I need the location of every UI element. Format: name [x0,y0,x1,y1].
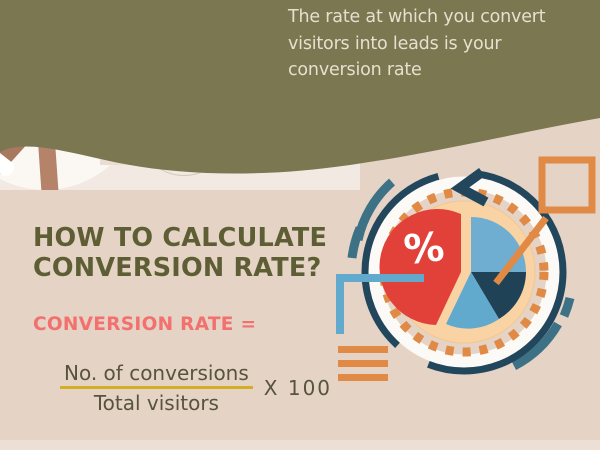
intro-paragraph: The rate at which you convert visitors i… [288,4,588,84]
headline-line-1: HOW TO CALCULATE [33,224,363,254]
page-title: HOW TO CALCULATE CONVERSION RATE? [33,224,363,283]
fraction-denominator: Total visitors [90,389,223,414]
bar-marks-icon [338,346,388,381]
infographic-canvas: $ $ The rate at which you convert visito… [0,0,600,450]
formula-multiplier: X 100 [264,376,332,400]
fraction: No. of conversions Total visitors [60,362,253,415]
pie-chart-graphic: % [330,148,600,398]
fraction-numerator: No. of conversions [60,362,253,386]
bottom-band [0,440,600,450]
headline-line-2: CONVERSION RATE? [33,254,363,284]
conversion-rate-label: CONVERSION RATE = [33,314,256,335]
conversion-rate-formula: No. of conversions Total visitors X 100 [60,362,332,415]
percent-symbol: % [402,224,447,274]
